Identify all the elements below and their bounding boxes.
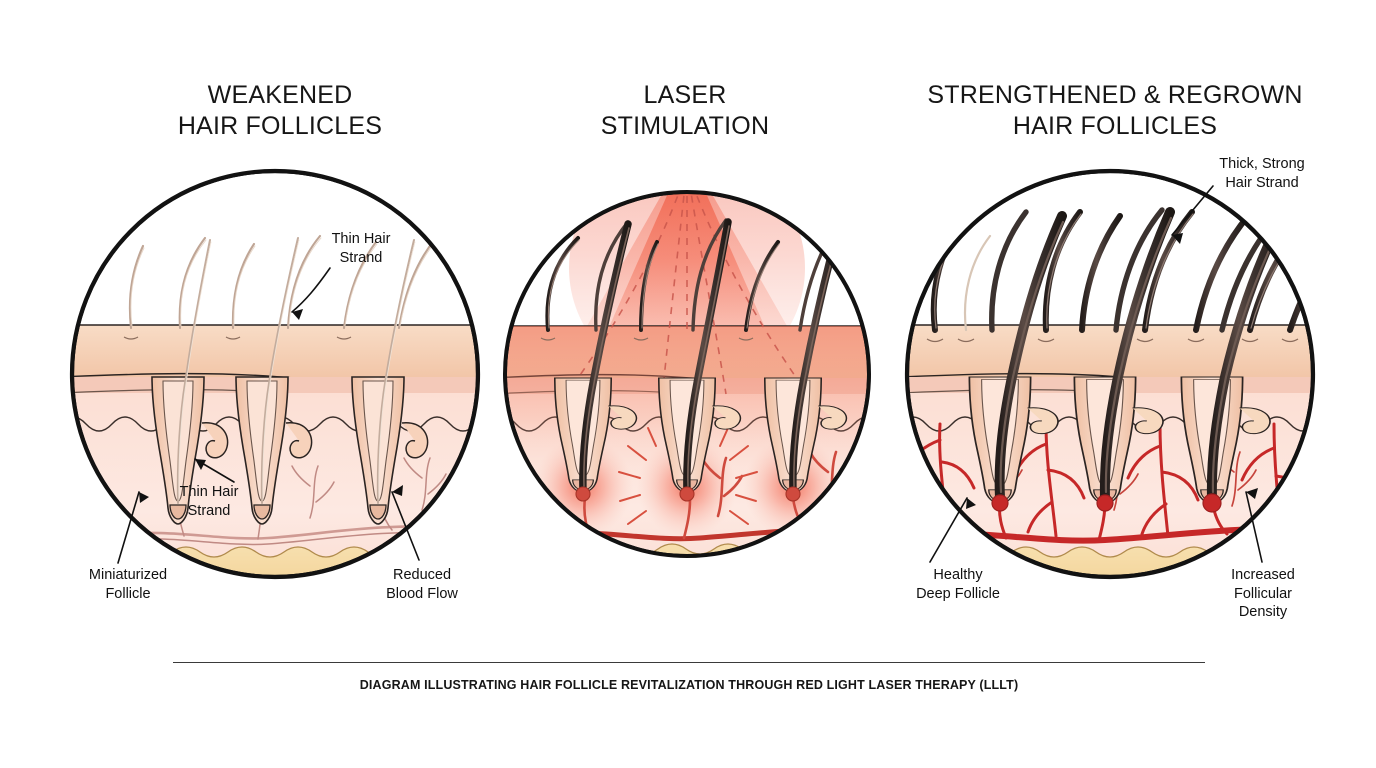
anno-thin-hair-strand-top: Thin Hair Strand	[306, 230, 416, 267]
panel-regrown-illustration	[900, 160, 1348, 600]
anno-reduced-blood-flow: Reduced Blood Flow	[362, 566, 482, 603]
panel-laser-illustration	[490, 150, 906, 600]
anno-miniaturized-follicle: Miniaturized Follicle	[68, 566, 188, 603]
anno-thin-hair-strand-deep: Thin Hair Strand	[154, 483, 264, 520]
anno-increased-follicular-density: Increased Follicular Density	[1204, 566, 1322, 622]
anno-thick-strong-hair-strand: Thick, Strong Hair Strand	[1198, 155, 1326, 192]
anno-healthy-deep-follicle: Healthy Deep Follicle	[888, 566, 1028, 603]
diagram-canvas: WEAKENED HAIR FOLLICLES LASER STIMULATIO…	[0, 0, 1376, 768]
caption-divider	[173, 662, 1205, 663]
illustration-svg	[0, 0, 1376, 768]
diagram-caption: DIAGRAM ILLUSTRATING HAIR FOLLICLE REVIT…	[173, 678, 1205, 692]
